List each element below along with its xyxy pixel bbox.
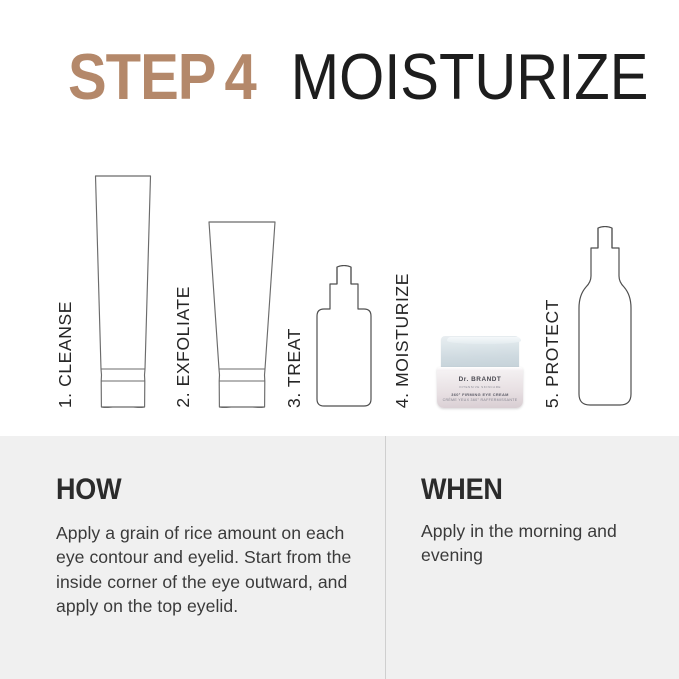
- product-name: 360° FIRMING EYE CREAM: [437, 393, 523, 397]
- when-heading: WHEN: [421, 475, 656, 505]
- page-title-step-number: 4: [225, 45, 257, 110]
- product-name-french: CRÈME YEUX 360° RAFFERMISSANTE: [437, 399, 523, 403]
- routine-step-label-moisturize: 4. MOISTURIZE: [394, 273, 412, 408]
- page-title-step-name: MOISTURIZE: [291, 45, 649, 110]
- panel-divider: [385, 436, 386, 679]
- product-jar-image: Dr. BRANDT INTENSIVE SKINCARE 360° FIRMI…: [437, 336, 523, 408]
- tube-tall-icon: [86, 175, 160, 408]
- jar-body: Dr. BRANDT INTENSIVE SKINCARE 360° FIRMI…: [437, 367, 523, 408]
- routine-step-protect: 5. PROTECT: [544, 226, 638, 408]
- jar-lid: [441, 336, 519, 369]
- page-title: STEP 4 MOISTURIZE: [68, 52, 648, 110]
- when-column: WHEN Apply in the morning and evening: [421, 436, 656, 568]
- when-text: Apply in the morning and evening: [421, 519, 656, 568]
- jar-lid-highlight: [447, 337, 521, 344]
- routine-step-cleanse: 1. CLEANSE: [57, 175, 160, 408]
- routine-product-strip: 1. CLEANSE 2. EXFOLIATE 3. TREAT 4. MOIS…: [0, 150, 679, 420]
- dropper-bottle-large-icon: [572, 226, 638, 408]
- routine-step-exfoliate: 2. EXFOLIATE: [175, 221, 280, 408]
- routine-step-treat: 3. TREAT: [286, 265, 375, 408]
- how-column: HOW Apply a grain of rice amount on each…: [56, 436, 356, 618]
- instructions-panel: HOW Apply a grain of rice amount on each…: [0, 436, 679, 679]
- dropper-bottle-small-icon: [313, 265, 375, 408]
- product-brand: Dr. BRANDT: [437, 377, 523, 383]
- product-brand-tagline: INTENSIVE SKINCARE: [437, 386, 523, 389]
- routine-step-label-treat: 3. TREAT: [286, 328, 304, 408]
- routine-step-label-protect: 5. PROTECT: [544, 299, 562, 408]
- routine-step-label-exfoliate: 2. EXFOLIATE: [175, 286, 193, 408]
- how-text: Apply a grain of rice amount on each eye…: [56, 521, 356, 618]
- page-title-step-word: STEP: [68, 45, 216, 110]
- how-heading: HOW: [56, 475, 356, 505]
- routine-step-label-cleanse: 1. CLEANSE: [57, 301, 75, 408]
- tube-short-icon: [204, 221, 280, 408]
